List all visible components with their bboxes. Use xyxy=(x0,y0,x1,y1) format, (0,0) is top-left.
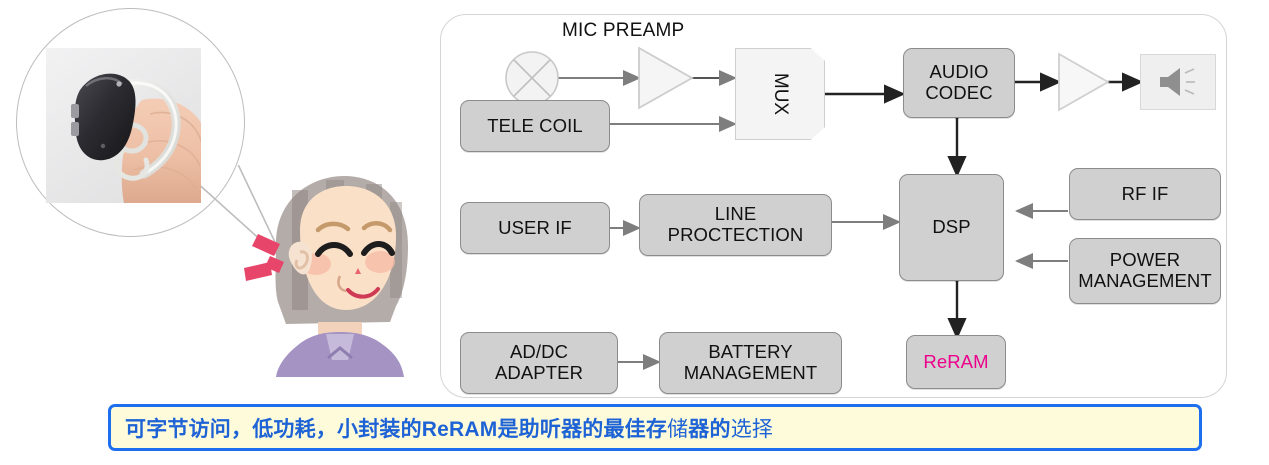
caption-bold-2: 器的 xyxy=(688,418,730,441)
block-line-proctection[interactable]: LINE PROCTECTION xyxy=(639,194,832,256)
block-tele-coil-label: TELE COIL xyxy=(487,116,583,137)
caption-text: 可字节访问，低功耗，小封装的ReRAM是助听器的最佳存储器的选择 xyxy=(125,413,773,443)
caption-mid: 储 xyxy=(667,418,688,441)
block-line-proctection-line1: LINE xyxy=(715,204,757,225)
speaker-icon xyxy=(1156,65,1200,99)
block-user-if-label: USER IF xyxy=(498,218,572,239)
block-audio-codec[interactable]: AUDIO CODEC xyxy=(903,48,1015,118)
hearing-aid-graphic xyxy=(46,48,201,203)
mic-preamp-label: MIC PREAMP xyxy=(562,20,684,42)
block-dsp-label: DSP xyxy=(932,217,970,238)
elderly-woman-avatar xyxy=(240,172,440,377)
block-user-if[interactable]: USER IF xyxy=(460,202,610,254)
block-rf-if[interactable]: RF IF xyxy=(1069,168,1221,220)
hearing-aid-illustration xyxy=(0,0,440,400)
caption-banner: 可字节访问，低功耗，小封装的ReRAM是助听器的最佳存储器的选择 xyxy=(108,404,1202,451)
block-battery-management-line2: MANAGEMENT xyxy=(684,363,818,384)
slide-canvas: MIC PREAMP MUX TELE COIL AUDIO CODEC USE… xyxy=(0,0,1269,465)
block-power-management-line2: MANAGEMENT xyxy=(1078,271,1212,292)
block-power-management-line1: POWER xyxy=(1110,250,1180,271)
block-power-management[interactable]: POWER MANAGEMENT xyxy=(1069,238,1221,304)
block-reram-label: ReRAM xyxy=(923,352,988,373)
block-dsp[interactable]: DSP xyxy=(899,174,1004,281)
block-reram[interactable]: ReRAM xyxy=(906,335,1006,389)
block-line-proctection-line2: PROCTECTION xyxy=(668,225,804,246)
block-battery-management[interactable]: BATTERY MANAGEMENT xyxy=(659,332,842,394)
block-mux[interactable]: MUX xyxy=(735,48,825,140)
speaker-output-box xyxy=(1140,54,1216,110)
block-ad-dc-adapter[interactable]: AD/DC ADAPTER xyxy=(460,332,618,394)
caption-bold-1: 可字节访问，低功耗，小封装的ReRAM是助听器的最佳存 xyxy=(125,418,667,441)
block-mux-label: MUX xyxy=(769,73,791,115)
block-audio-codec-line2: CODEC xyxy=(925,83,992,104)
block-ad-dc-adapter-line2: ADAPTER xyxy=(495,363,583,384)
block-rf-if-label: RF IF xyxy=(1122,184,1169,205)
caption-thin: 选择 xyxy=(731,418,773,441)
block-tele-coil[interactable]: TELE COIL xyxy=(460,100,610,152)
block-ad-dc-adapter-line1: AD/DC xyxy=(510,342,568,363)
hearing-aid-block-diagram: MIC PREAMP MUX TELE COIL AUDIO CODEC USE… xyxy=(440,6,1240,398)
block-audio-codec-line1: AUDIO xyxy=(929,62,988,83)
block-battery-management-line1: BATTERY xyxy=(708,342,792,363)
hearing-aid-photo xyxy=(46,48,201,203)
